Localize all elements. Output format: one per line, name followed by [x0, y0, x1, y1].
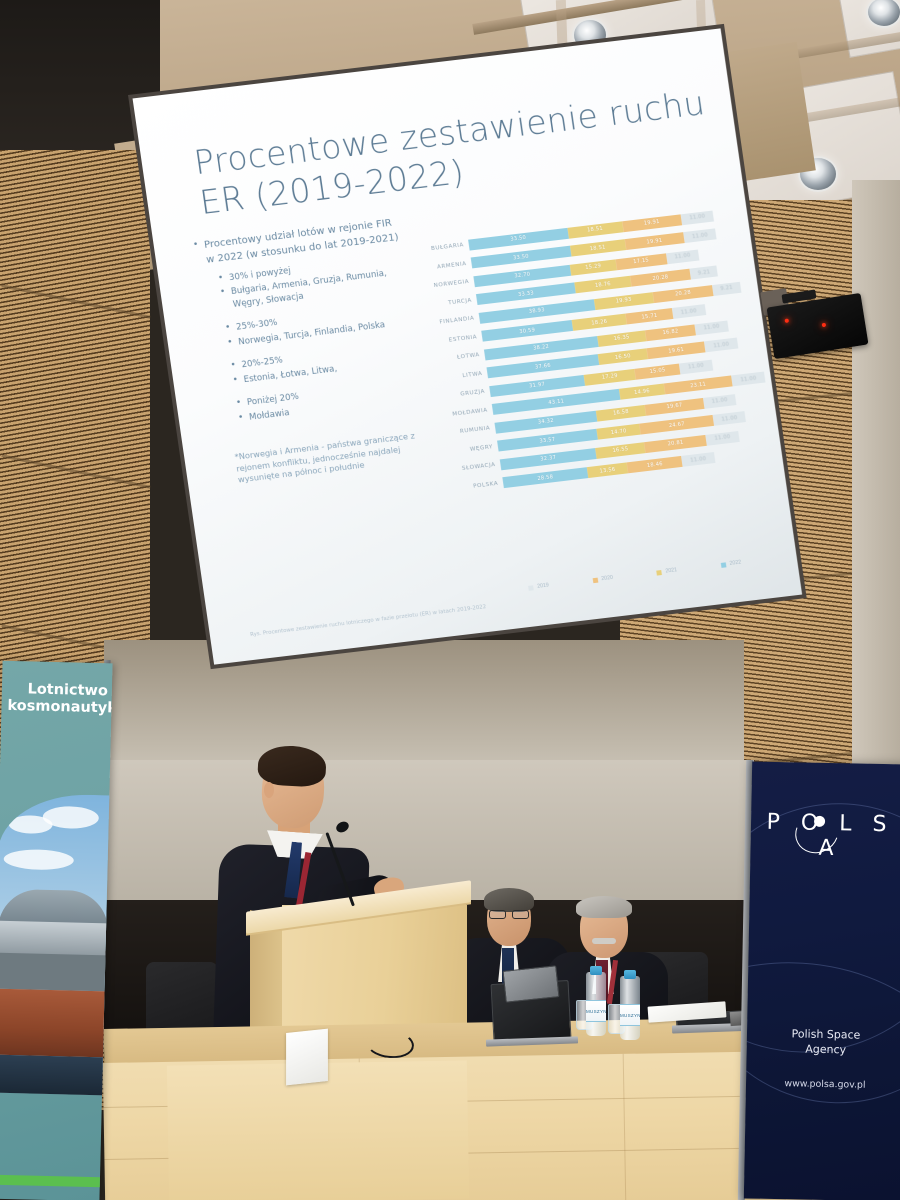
- legend-label: 2021: [665, 567, 677, 574]
- chart-value-label: 16.58: [613, 409, 630, 417]
- legend-swatch-icon: [656, 570, 662, 576]
- chart-bar-segment-2019: 11.00: [683, 229, 717, 244]
- chart-value-label: 18.51: [589, 244, 606, 252]
- chart-value-label: 31.97: [529, 382, 546, 390]
- chart-value-label: 15.71: [641, 313, 658, 321]
- banner-left-title: Lotnictwo kosmonautyka: [7, 681, 112, 717]
- chart-value-label: 18.76: [595, 281, 612, 289]
- chart-value-label: 20.81: [667, 440, 684, 448]
- chart-value-label: 17.15: [633, 258, 650, 266]
- chart-bar-segment-2020: 15.71: [625, 308, 673, 324]
- legend-swatch-icon: [592, 577, 598, 583]
- chart-category-label: ŁOTWA: [421, 352, 485, 366]
- chart-value-label: 32.37: [540, 455, 557, 463]
- chart-value-label: 11.00: [689, 214, 706, 222]
- glasses-icon: [512, 910, 529, 919]
- chart-bar-segment-2020: 18.46: [627, 456, 683, 473]
- chart-value-label: 11.00: [688, 363, 705, 371]
- legend-item-2022: 2022: [720, 560, 741, 568]
- ceiling-downlight: [866, 0, 900, 28]
- chart-value-label: 17.29: [602, 373, 619, 381]
- chart-value-label: 19.93: [615, 297, 632, 305]
- table-seam: [623, 1054, 627, 1200]
- chart-value-label: 20.28: [652, 274, 669, 282]
- led-indicator: [785, 318, 790, 323]
- wall-band: [104, 760, 754, 905]
- chart-value-label: 14.96: [634, 388, 651, 396]
- chart-category-label: FINLANDIA: [415, 315, 479, 329]
- chart-bar-segment-2019: 11.00: [706, 431, 740, 446]
- tarmac: [0, 953, 107, 992]
- bottle-label: MUSZYNIANKA: [586, 1000, 606, 1022]
- chart-value-label: 19.67: [666, 403, 683, 411]
- chart-value-label: 16.50: [615, 353, 632, 361]
- chart-value-label: 11.00: [690, 456, 707, 464]
- chart-category-label: RUMUNIA: [431, 425, 495, 439]
- chart-value-label: 13.56: [599, 467, 616, 475]
- chart-bar-segment-2021: 14.96: [619, 384, 665, 400]
- legend-swatch-icon: [720, 562, 726, 568]
- chart-value-label: 15.05: [649, 367, 666, 375]
- legend-swatch-icon: [528, 585, 534, 591]
- bottle-cap: [590, 966, 602, 975]
- chart-value-label: 30.59: [519, 327, 536, 335]
- chart-value-label: 18.51: [587, 226, 604, 234]
- chart-value-label: 38.22: [533, 344, 550, 352]
- slide-bullets: Procentowy udział lotów w rejonie FIR w …: [189, 216, 433, 488]
- chart-bar-segment-2021: 16.58: [596, 405, 647, 422]
- slide-title: Procentowe zestawienie ruchu ER (2019-20…: [192, 81, 730, 223]
- chart-value-label: 24.67: [669, 421, 686, 429]
- airport-terminal: [0, 921, 108, 958]
- chart-bar-segment-2019: 11.00: [672, 304, 706, 319]
- chart-bar-segment-2021: 16.50: [598, 349, 648, 366]
- chart-bar-segment-2019: 11.00: [731, 372, 765, 387]
- chart-value-label: 14.70: [610, 428, 627, 436]
- chart-bar-segment-2020: 17.15: [615, 253, 667, 270]
- chart-value-label: 33.57: [539, 436, 556, 444]
- chart-category-label: MOŁDAWIA: [429, 407, 493, 421]
- chart-category-label: TURCJA: [413, 297, 477, 311]
- chart-category-label: LITWA: [423, 370, 487, 384]
- chart-value-label: 11.00: [674, 253, 691, 261]
- chart-category-label: POLSKA: [439, 480, 503, 494]
- legend-item-2020: 2020: [592, 575, 613, 583]
- chart-value-label: 23.11: [690, 381, 707, 389]
- chart-value-label: 34.32: [538, 418, 555, 426]
- chart-value-label: 19.91: [646, 237, 663, 245]
- chart-bar-segment-2019: 11.00: [666, 249, 700, 264]
- chart-value-label: 16.35: [613, 335, 630, 343]
- screen-frame: Procentowe zestawienie ruchu ER (2019-20…: [128, 24, 807, 669]
- chart-value-label: 11.00: [713, 341, 730, 349]
- chart-category-label: ESTONIA: [418, 333, 482, 347]
- chart-bar-segment-2020: 15.05: [635, 363, 681, 379]
- banner-left-line2: kosmonautyka: [7, 698, 107, 717]
- chart-bar-segment-2019: 11.00: [680, 210, 714, 225]
- chart-bar-segment-2019: 11.00: [712, 411, 746, 426]
- chart-bar-segment-2021: 16.55: [595, 442, 645, 459]
- chart-bar-segment-2019: 11.00: [695, 320, 729, 335]
- chart-bar-segment-2021: 13.56: [587, 463, 629, 479]
- chart-bar-segment-2019: 11.00: [681, 452, 715, 467]
- chart-value-label: 20.28: [675, 290, 692, 298]
- chart-value-label: 11.00: [714, 434, 731, 442]
- bottle-cap: [624, 970, 636, 979]
- chart-value-label: 18.26: [591, 319, 608, 327]
- wall-below-screen: [104, 640, 744, 770]
- banner-right-subtitle: Polish Space Agency: [747, 1025, 900, 1058]
- polsa-logo: P O L S A: [750, 810, 900, 863]
- chart-value-label: 43.11: [548, 398, 565, 406]
- chart-value-label: 16.82: [662, 329, 679, 337]
- chart-value-label: 11.00: [703, 324, 720, 332]
- chart-bar-segment-2020: 16.82: [645, 324, 696, 341]
- chart-bar-segment-2019: 11.00: [703, 394, 737, 409]
- chart-value-label: 11.00: [740, 375, 757, 383]
- banner-left-image: [0, 793, 111, 1096]
- chart-category-label: BUŁGARIA: [405, 242, 469, 256]
- mars-surface-image: [0, 989, 107, 1058]
- panelist-two-hair: [576, 896, 632, 918]
- chart-value-label: 9.21: [720, 285, 733, 292]
- chart-value-label: 32.70: [514, 272, 531, 280]
- chart-bar-segment-2021: 17.29: [584, 369, 637, 386]
- chart-value-label: 11.00: [711, 397, 728, 405]
- bar-chart: BUŁGARIA33.5018.5119.9111.00ARMENIA33.50…: [404, 203, 787, 570]
- chart-bar-segment-2021: 14.70: [596, 424, 641, 440]
- banner-right-line2: Agency: [747, 1041, 900, 1059]
- chart-value-label: 33.33: [518, 290, 535, 298]
- legend-item-2021: 2021: [656, 567, 677, 575]
- chart-bar-segment-2021: 15.29: [570, 259, 617, 275]
- legend-item-2019: 2019: [528, 582, 549, 590]
- panelist-two-mustache: [592, 938, 616, 944]
- chart-category-label: NORWEGIA: [410, 279, 474, 293]
- chart-value-label: 28.58: [537, 474, 554, 482]
- chart-value-label: 37.66: [535, 363, 552, 371]
- chart-value-label: 15.29: [585, 263, 602, 271]
- conference-room-photo: Procentowe zestawienie ruchu ER (2019-20…: [0, 0, 900, 1200]
- legend-label: 2022: [729, 560, 741, 567]
- chart-value-label: 16.55: [612, 446, 629, 454]
- chart-value-label: 19.91: [643, 219, 660, 227]
- bottle-label: MUSZYNIANKA: [620, 1004, 640, 1026]
- projection-screen: Procentowe zestawienie ruchu ER (2019-20…: [128, 24, 807, 669]
- chart-category-label: ARMENIA: [408, 260, 472, 274]
- chart-value-label: 38.93: [529, 307, 546, 315]
- glasses-icon: [489, 910, 506, 919]
- chart-value-label: 11.00: [681, 308, 698, 316]
- legend-label: 2019: [537, 582, 549, 589]
- paper-sheet: [286, 1029, 328, 1086]
- panelist-one-hair: [484, 888, 534, 912]
- chart-rows: BUŁGARIA33.5018.5119.9111.00ARMENIA33.50…: [404, 203, 777, 499]
- banner-left-accent-bar: [0, 1175, 102, 1188]
- chart-value-label: 9.21: [697, 269, 710, 276]
- chart-value-label: 18.46: [646, 461, 663, 469]
- led-indicator: [822, 323, 827, 328]
- control-room-image: [0, 1055, 105, 1096]
- slide-footnote: *Norwegia i Armenia - państwa graniczące…: [234, 429, 434, 487]
- chart-bar-segment-2019: 11.00: [704, 338, 738, 353]
- banner-polsa: P O L S A Polish Space Agency www.polsa.…: [744, 762, 900, 1200]
- wall-right-plain: [852, 180, 900, 820]
- slide-surface: Procentowe zestawienie ruchu ER (2019-20…: [133, 28, 803, 664]
- chart-bar-segment-2019: 9.21: [690, 266, 719, 280]
- chart-category-label: SŁOWACJA: [437, 462, 501, 476]
- chart-value-label: 19.61: [668, 347, 685, 355]
- laptop-screen: [502, 965, 559, 1002]
- chart-bar-segment-2019: 11.00: [679, 359, 713, 374]
- chart-category-label: GRUZJA: [426, 388, 490, 402]
- legend-label: 2020: [601, 575, 613, 582]
- chart-bar-segment-2019: 9.21: [712, 282, 741, 296]
- chart-category-label: WĘGRY: [434, 443, 498, 457]
- chart-value-label: 11.00: [721, 415, 738, 423]
- banner-lotnictwo-kosmonautyka: Lotnictwo kosmonautyka: [0, 661, 113, 1200]
- chart-value-label: 33.50: [513, 253, 530, 261]
- speaker-ear: [264, 782, 274, 798]
- chart-bar-segment-2021: 16.35: [597, 330, 647, 347]
- chart-value-label: 11.00: [692, 232, 709, 240]
- chart-value-label: 33.50: [510, 235, 527, 243]
